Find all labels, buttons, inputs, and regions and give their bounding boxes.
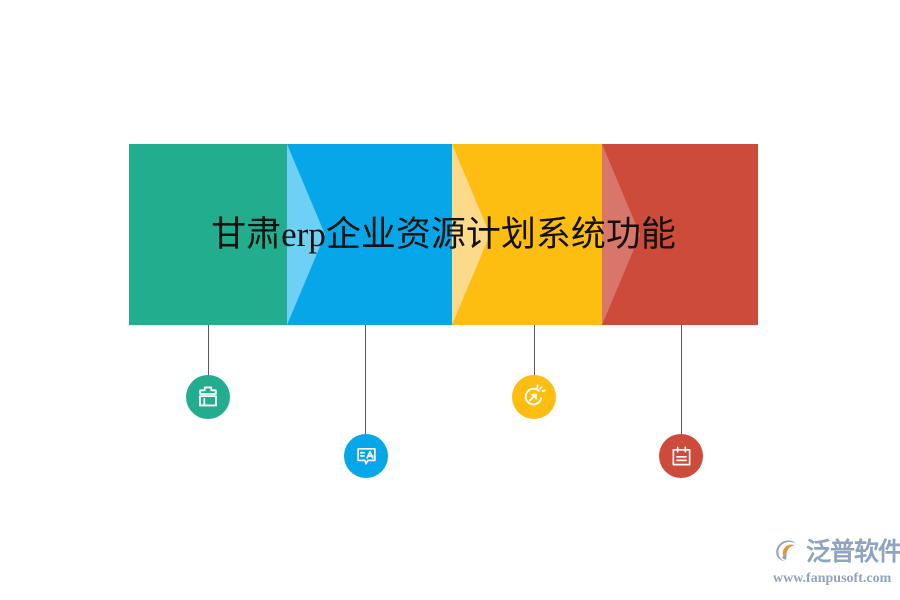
node-bubble-calendar[interactable] xyxy=(659,434,703,478)
translate-icon xyxy=(354,444,379,469)
brand-name: 泛普软件 xyxy=(806,537,900,567)
calendar-icon xyxy=(669,444,694,469)
node-bubble-store[interactable] xyxy=(186,375,230,419)
brand-logo-row: 泛普软件 xyxy=(773,534,893,570)
fanpu-logo-icon xyxy=(773,537,803,567)
segment-green-body xyxy=(129,144,287,325)
page-canvas: 甘肃erp企业资源计划系统功能 xyxy=(0,0,900,600)
brand-url: www.fanpusoft.com xyxy=(773,571,893,587)
store-icon xyxy=(195,384,221,410)
fanpu-mark-shape xyxy=(773,537,803,567)
connector-stem-1 xyxy=(208,325,209,377)
growth-icon xyxy=(521,384,547,410)
node-bubble-translate[interactable] xyxy=(344,434,388,478)
banner-chevron-bar: 甘肃erp企业资源计划系统功能 xyxy=(129,144,758,325)
banner-shapes xyxy=(129,144,758,325)
connector-stem-2 xyxy=(365,325,366,436)
connector-stem-4 xyxy=(681,325,682,436)
brand-logo[interactable]: 泛普软件 www.fanpusoft.com xyxy=(773,534,893,590)
node-bubble-growth[interactable] xyxy=(512,375,556,419)
connector-stem-3 xyxy=(534,325,535,377)
